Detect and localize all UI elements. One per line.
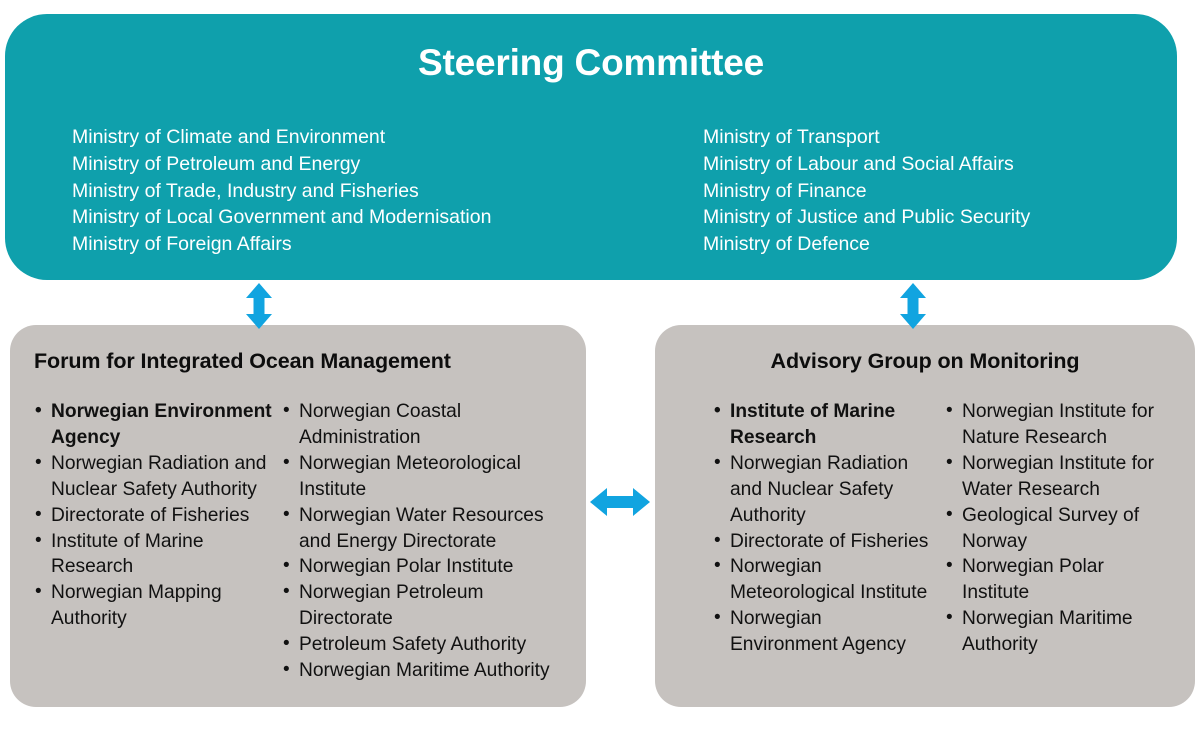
forum-members-left-column: Norwegian Environment AgencyNorwegian Ra… <box>34 399 274 684</box>
ministry-item: Ministry of Trade, Industry and Fisherie… <box>72 178 491 205</box>
member-list-item: Norwegian Meteorological Institute <box>282 451 572 503</box>
member-list-item: Geological Survey of Norway <box>945 503 1170 555</box>
member-list-item: Directorate of Fisheries <box>34 503 274 529</box>
member-list-item: Norwegian Institute for Nature Research <box>945 399 1170 451</box>
double-arrow-horizontal-icon <box>590 487 650 522</box>
forum-integrated-ocean-management-box: Forum for Integrated Ocean Management No… <box>10 325 586 707</box>
advisory-member-columns: Institute of Marine ResearchNorwegian Ra… <box>655 399 1195 658</box>
member-list-item: Norwegian Polar Institute <box>945 554 1170 606</box>
ministry-item: Ministry of Defence <box>703 231 1030 258</box>
member-list-item: Norwegian Radiation and Nuclear Safety A… <box>34 451 274 503</box>
forum-member-list-right: Norwegian Coastal AdministrationNorwegia… <box>282 399 572 684</box>
member-list-item: Institute of Marine Research <box>713 399 933 451</box>
advisory-group-monitoring-box: Advisory Group on Monitoring Institute o… <box>655 325 1195 707</box>
double-arrow-vertical-icon <box>899 283 927 334</box>
advisory-title: Advisory Group on Monitoring <box>655 349 1195 374</box>
member-list-item: Directorate of Fisheries <box>713 529 933 555</box>
ministry-item: Ministry of Justice and Public Security <box>703 204 1030 231</box>
ministry-item: Ministry of Foreign Affairs <box>72 231 491 258</box>
ministry-item: Ministry of Finance <box>703 178 1030 205</box>
ministry-item: Ministry of Climate and Environment <box>72 124 491 151</box>
ministry-item: Ministry of Local Government and Moderni… <box>72 204 491 231</box>
member-list-item: Norwegian Coastal Administration <box>282 399 572 451</box>
member-list-item: Norwegian Petroleum Directorate <box>282 580 572 632</box>
forum-members-right-column: Norwegian Coastal AdministrationNorwegia… <box>282 399 572 684</box>
advisory-member-list-right: Norwegian Institute for Nature ResearchN… <box>945 399 1170 658</box>
ministry-item: Ministry of Petroleum and Energy <box>72 151 491 178</box>
member-list-item: Norwegian Radiation and Nuclear Safety A… <box>713 451 933 529</box>
member-list-item: Norwegian Maritime Authority <box>945 606 1170 658</box>
forum-member-list-left: Norwegian Environment AgencyNorwegian Ra… <box>34 399 274 632</box>
advisory-members-right-column: Norwegian Institute for Nature ResearchN… <box>945 399 1170 658</box>
steering-committee-title: Steering Committee <box>5 42 1177 84</box>
member-list-item: Norwegian Institute for Water Research <box>945 451 1170 503</box>
member-list-item: Norwegian Mapping Authority <box>34 580 274 632</box>
member-list-item: Norwegian Meteorological Institute <box>713 554 933 606</box>
member-list-item: Norwegian Water Resources and Energy Dir… <box>282 503 572 555</box>
steering-ministries-right-column: Ministry of TransportMinistry of Labour … <box>703 124 1030 258</box>
steering-ministries-left-column: Ministry of Climate and EnvironmentMinis… <box>72 124 491 258</box>
member-list-item: Norwegian Environment Agency <box>713 606 933 658</box>
member-list-item: Norwegian Maritime Authority <box>282 658 572 684</box>
steering-committee-panel: Steering Committee Ministry of Climate a… <box>5 14 1177 280</box>
ministry-item: Ministry of Labour and Social Affairs <box>703 151 1030 178</box>
member-list-item: Norwegian Polar Institute <box>282 554 572 580</box>
ministry-item: Ministry of Transport <box>703 124 1030 151</box>
forum-title: Forum for Integrated Ocean Management <box>34 349 451 374</box>
member-list-item: Petroleum Safety Authority <box>282 632 572 658</box>
advisory-members-left-column: Institute of Marine ResearchNorwegian Ra… <box>713 399 933 658</box>
member-list-item: Institute of Marine Research <box>34 529 274 581</box>
advisory-member-list-left: Institute of Marine ResearchNorwegian Ra… <box>713 399 933 658</box>
double-arrow-vertical-icon <box>245 283 273 334</box>
member-list-item: Norwegian Environment Agency <box>34 399 274 451</box>
forum-member-columns: Norwegian Environment AgencyNorwegian Ra… <box>10 399 586 684</box>
